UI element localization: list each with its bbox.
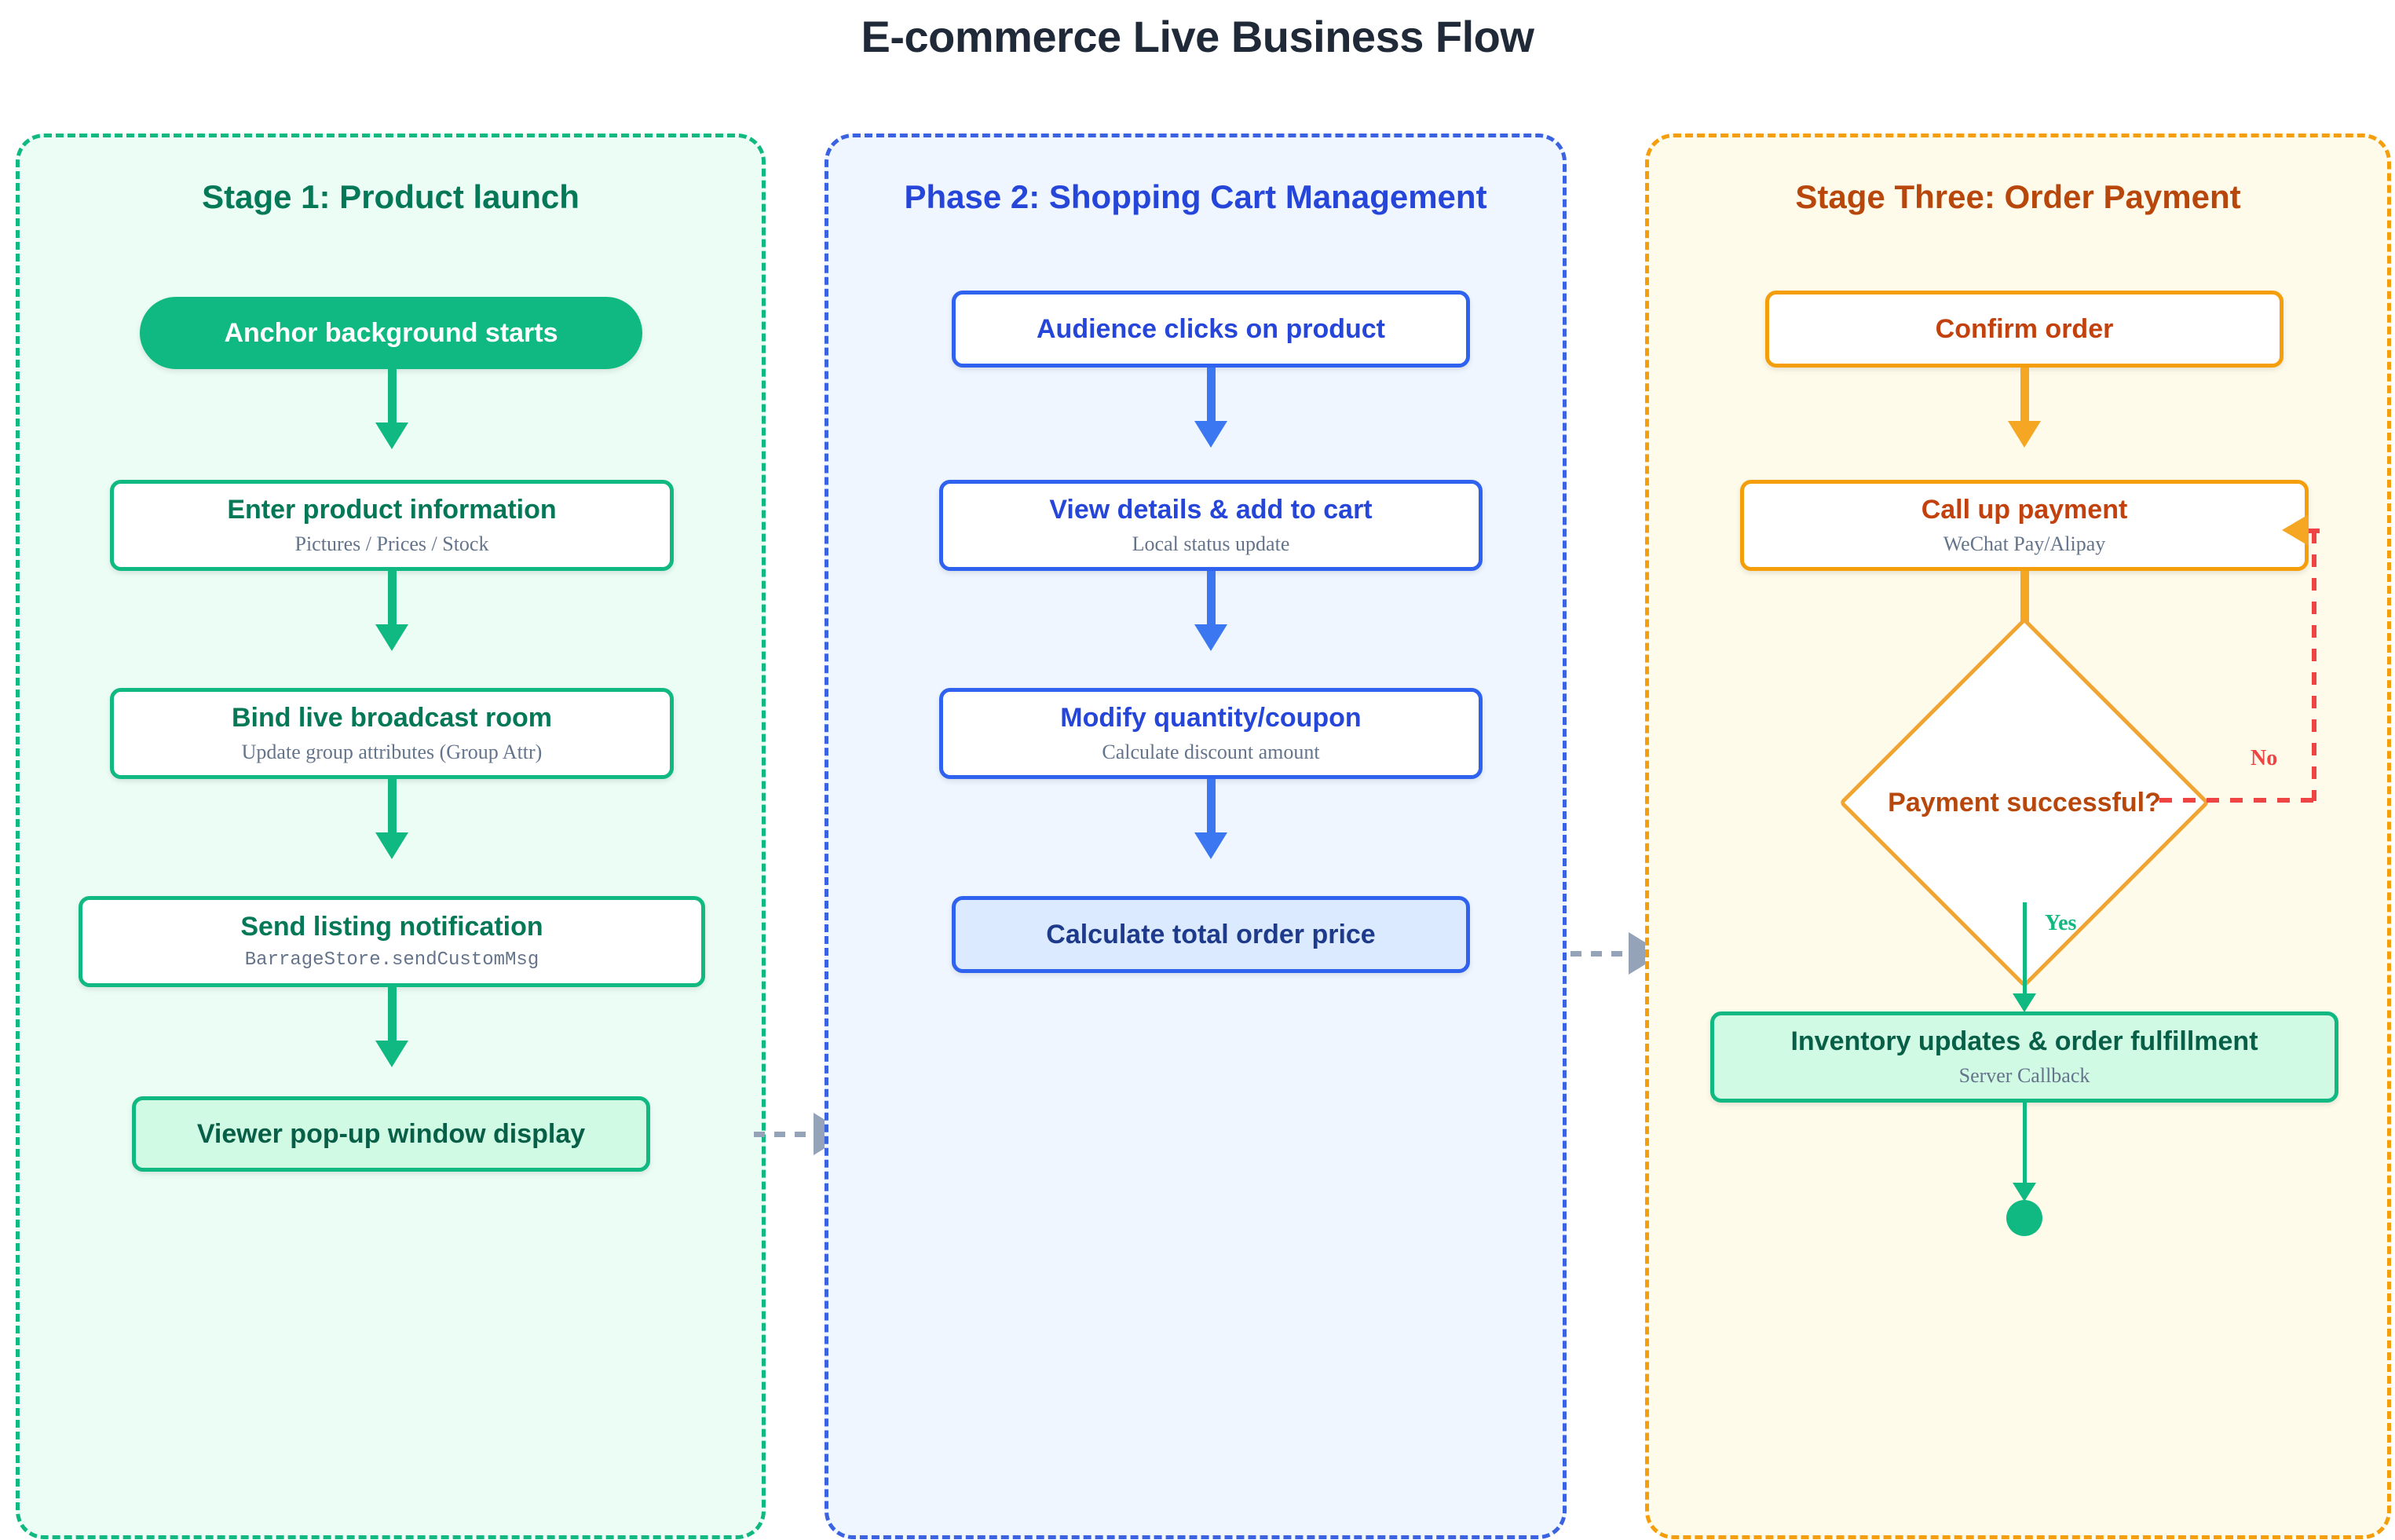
node-subtitle: Pictures / Prices / Stock [295, 533, 489, 556]
node-subtitle: Update group attributes (Group Attr) [242, 741, 543, 764]
edge-send-notification-to-popup [375, 987, 408, 1067]
lane-title-stage-three: Stage Three: Order Payment [1649, 178, 2387, 216]
node-title: Send listing notification [240, 912, 543, 942]
lane-title-phase-2: Phase 2: Shopping Cart Management [828, 178, 1563, 216]
node-subtitle: Server Callback [1959, 1065, 2090, 1088]
node-viewer-popup-window-display[interactable]: Viewer pop-up window display [132, 1096, 650, 1172]
edge-bind-room-to-send-notification [375, 779, 408, 859]
edge-view-details-to-modify-quantity [1194, 571, 1227, 651]
loop-no-segment-up [2312, 531, 2316, 801]
edge-confirm-order-to-call-payment [2008, 368, 2041, 448]
node-modify-quantity-coupon[interactable]: Modify quantity/coupon Calculate discoun… [939, 688, 1483, 779]
arrow-left-icon [2282, 514, 2309, 546]
node-title: Anchor background starts [224, 318, 558, 348]
node-title: Inventory updates & order fulfillment [1790, 1026, 2258, 1056]
node-view-details-add-to-cart[interactable]: View details & add to cart Local status … [939, 480, 1483, 571]
node-audience-clicks-on-product[interactable]: Audience clicks on product [952, 291, 1470, 368]
node-title: Call up payment [1921, 495, 2128, 525]
node-title: Modify quantity/coupon [1060, 703, 1361, 733]
edge-audience-clicks-to-view-details [1194, 368, 1227, 448]
lane-title-stage-1: Stage 1: Product launch [20, 178, 762, 216]
node-calculate-total-order-price[interactable]: Calculate total order price [952, 896, 1470, 973]
loop-no-segment-left [2307, 529, 2321, 533]
node-title: Confirm order [1936, 314, 2114, 344]
flowchart-canvas: E-commerce Live Business Flow Stage 1: P… [0, 0, 2395, 1540]
edge-label-yes: Yes [2045, 911, 2076, 936]
edge-label-no: No [2251, 746, 2277, 771]
edge-inventory-to-end [2008, 1103, 2041, 1202]
node-title: Enter product information [227, 495, 556, 525]
node-send-listing-notification[interactable]: Send listing notification BarrageStore.s… [79, 896, 705, 987]
node-subtitle: Local status update [1132, 533, 1290, 556]
node-enter-product-information[interactable]: Enter product information Pictures / Pri… [110, 480, 674, 571]
terminator-circle-icon [2006, 1200, 2042, 1236]
node-title: Viewer pop-up window display [197, 1119, 585, 1149]
node-inventory-updates-order-fulfillment[interactable]: Inventory updates & order fulfillment Se… [1710, 1011, 2338, 1103]
edge-enter-product-to-bind-room [375, 571, 408, 651]
node-title: Payment successful? [1893, 671, 2155, 934]
edge-decision-yes-to-inventory [2008, 902, 2041, 1012]
connector-dash [1570, 951, 1630, 957]
node-title: Audience clicks on product [1037, 314, 1385, 344]
node-subtitle: BarrageStore.sendCustomMsg [245, 950, 539, 971]
node-subtitle: WeChat Pay/Alipay [1943, 533, 2106, 556]
node-payment-successful-decision[interactable]: Payment successful? [1893, 671, 2155, 934]
node-subtitle: Calculate discount amount [1102, 741, 1319, 764]
page-title: E-commerce Live Business Flow [0, 11, 2395, 62]
loop-no-segment-right [2159, 798, 2316, 803]
connector-dash [754, 1132, 815, 1137]
node-call-up-payment[interactable]: Call up payment WeChat Pay/Alipay [1740, 480, 2309, 571]
node-title: View details & add to cart [1049, 495, 1372, 525]
node-title: Calculate total order price [1046, 920, 1375, 949]
edge-modify-quantity-to-calculate-total [1194, 779, 1227, 859]
node-confirm-order[interactable]: Confirm order [1765, 291, 2283, 368]
node-bind-live-broadcast-room[interactable]: Bind live broadcast room Update group at… [110, 688, 674, 779]
node-title: Bind live broadcast room [232, 703, 552, 733]
edge-start-to-enter-product [375, 369, 408, 449]
node-anchor-background-starts[interactable]: Anchor background starts [140, 297, 642, 369]
